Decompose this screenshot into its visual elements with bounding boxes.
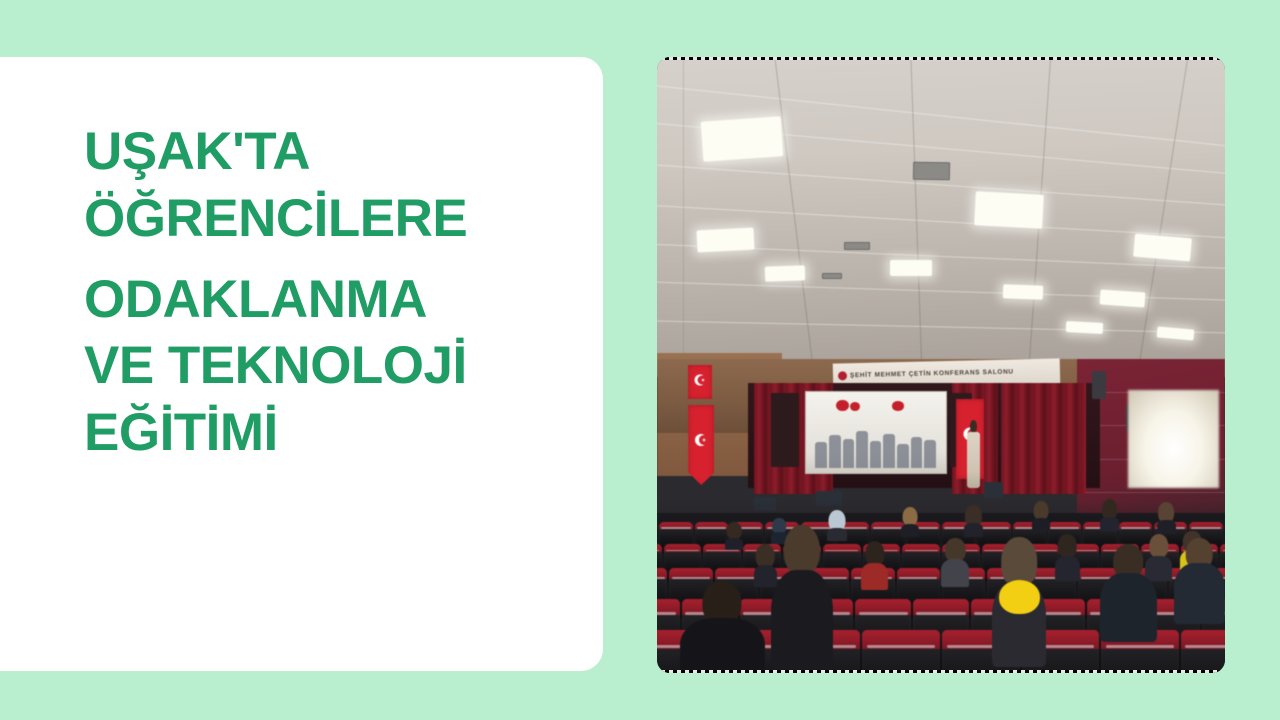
bright-doorway [1128,390,1219,489]
audience-member-black-hoodie [771,525,833,673]
wall-speaker [1092,371,1107,399]
ceiling-light-panel [1100,290,1146,308]
stage-banner-text: ŞEHİT MEHMET ÇETİN KONFERANS SALONU [850,369,1014,380]
headline-spacer [84,253,584,267]
audience-member [1100,544,1157,643]
ceiling-light-panel [1133,233,1192,261]
audience-member [1100,499,1119,531]
audience-member-red-shirt [861,541,887,590]
ceiling-vent [844,242,870,251]
turkish-flag-left-upper [688,365,712,399]
stage-side-door [771,393,799,467]
speaker-person [967,420,981,488]
audience-member-yellow-hood [992,537,1046,666]
stage-curtain-right [1001,383,1086,494]
ceiling-vent [912,161,949,180]
ceiling [657,57,1225,377]
photo-bottom-dashed-edge [657,670,1225,673]
ceiling-vent [822,273,842,280]
headline-card: UŞAK'TA ÖĞRENCİLERE ODAKLANMA VE TEKNOLO… [0,57,603,671]
audience-member [1157,502,1176,534]
ceiling-light-panel [701,116,783,161]
ceiling-light-panel [1066,321,1103,334]
stage-monitor-speaker [984,482,1004,498]
audience-member-foreground [680,581,765,673]
ceiling-light-panel [765,266,805,282]
audience-member [901,507,919,538]
headline-line-4: VE TEKNOLOJİ [84,333,584,400]
ceiling-light-panel [696,228,754,253]
audience-member [1055,534,1080,580]
headline-line-5: EĞİTİMİ [84,400,584,467]
headline-line-3: ODAKLANMA [84,267,584,334]
audience-member [1174,538,1225,624]
ceiling-light-panel [974,191,1044,228]
headline-line-2: ÖĞRENCİLERE [84,186,584,253]
ceiling-light-panel [1003,284,1043,300]
slide-photo-group [815,426,935,468]
audience-member [964,505,983,537]
page-title: UŞAK'TA ÖĞRENCİLERE ODAKLANMA VE TEKNOLO… [84,119,584,467]
turkish-flag-left [688,405,714,485]
photo-top-dashed-edge [657,57,1225,60]
banner-logo-icon [838,371,847,380]
audience-member [941,538,969,587]
photo-scene: ŞEHİT MEHMET ÇETİN KONFERANS SALONU [657,57,1225,673]
projection-screen [805,391,947,474]
conference-hall-photo: ŞEHİT MEHMET ÇETİN KONFERANS SALONU [657,57,1225,673]
headline-line-1: UŞAK'TA [84,119,584,186]
ceiling-light-panel [890,260,933,276]
audience-member [1032,501,1050,532]
audience-member [725,522,743,550]
